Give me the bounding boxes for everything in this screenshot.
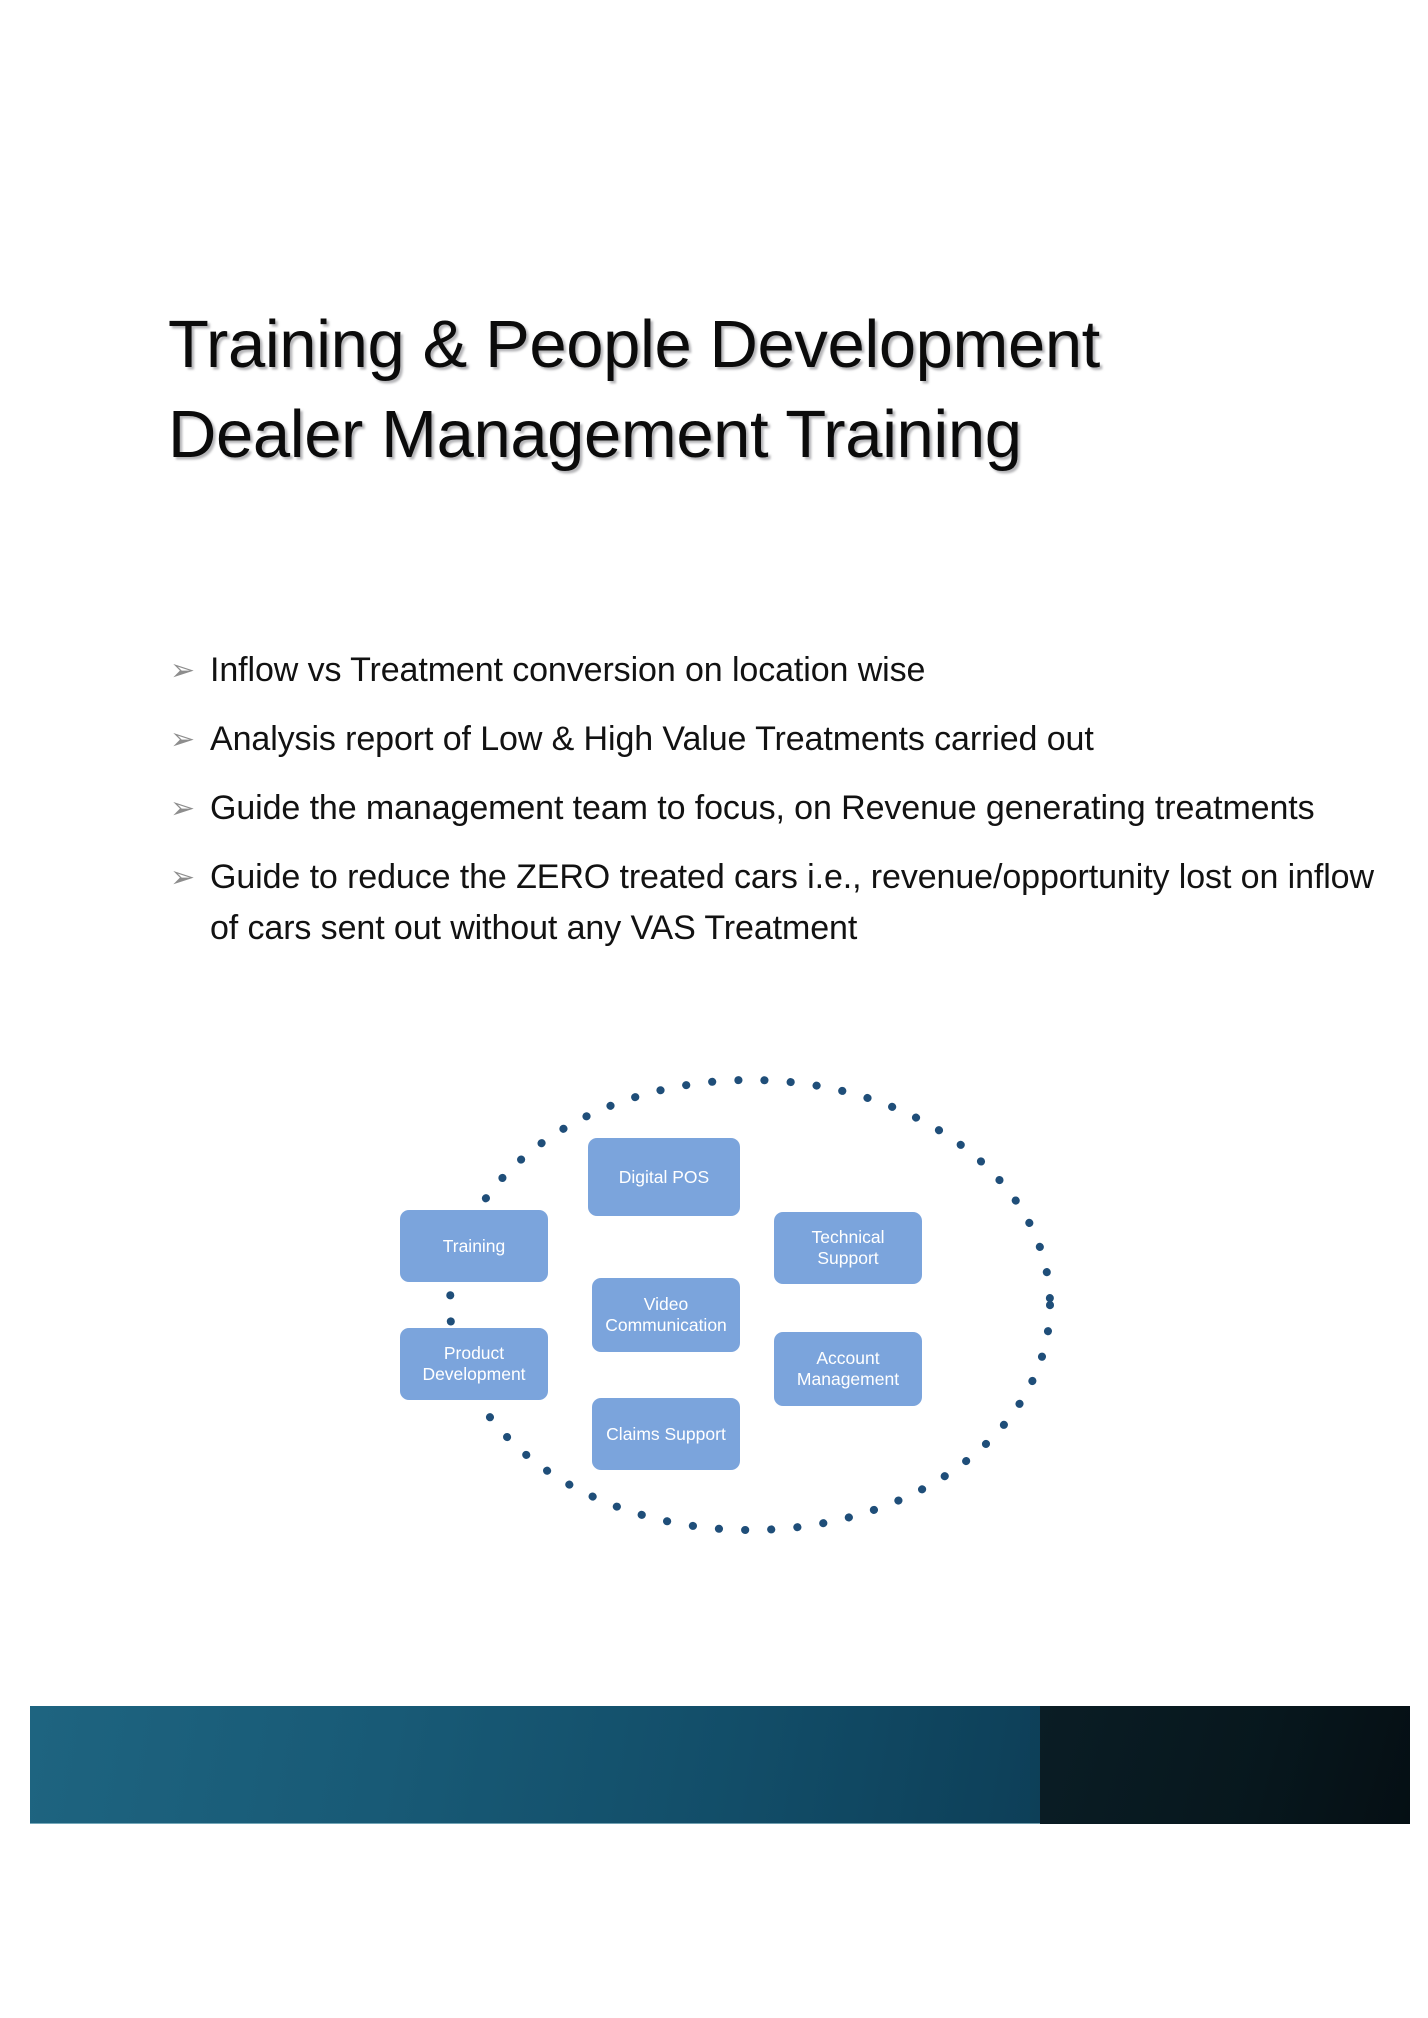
title-line-2: Dealer Management Training: [168, 390, 1308, 480]
node-video-communication[interactable]: VideoCommunication: [592, 1278, 740, 1352]
node-digital-pos[interactable]: Digital POS: [588, 1138, 740, 1216]
slide-canvas: Training & People Development Dealer Man…: [0, 0, 1428, 2018]
bullet-text-2: Analysis report of Low & High Value Trea…: [210, 714, 1398, 765]
list-item: ➢ Guide the management team to focus, on…: [168, 783, 1398, 834]
arrow-bullet-icon: ➢: [168, 852, 210, 903]
footer-band-right: [1040, 1706, 1410, 1824]
arrow-bullet-icon: ➢: [168, 714, 210, 765]
list-item: ➢ Analysis report of Low & High Value Tr…: [168, 714, 1398, 765]
node-label: ProductDevelopment: [422, 1343, 525, 1385]
capability-diagram: Digital POS Training TechnicalSupport Vi…: [370, 1060, 1130, 1670]
node-label: AccountManagement: [797, 1348, 899, 1390]
node-account-management[interactable]: AccountManagement: [774, 1332, 922, 1406]
bullet-list: ➢ Inflow vs Treatment conversion on loca…: [168, 645, 1398, 972]
node-label: TechnicalSupport: [812, 1227, 885, 1269]
node-label: Digital POS: [619, 1167, 709, 1188]
node-label: Claims Support: [606, 1424, 726, 1445]
footer-band: [30, 1706, 1410, 1824]
node-label: Training: [443, 1236, 506, 1257]
bullet-text-1: Inflow vs Treatment conversion on locati…: [210, 645, 1398, 696]
bullet-text-3: Guide the management team to focus, on R…: [210, 783, 1398, 834]
list-item: ➢ Inflow vs Treatment conversion on loca…: [168, 645, 1398, 696]
node-label: VideoCommunication: [605, 1294, 727, 1336]
page-title: Training & People Development Dealer Man…: [168, 300, 1308, 481]
node-claims-support[interactable]: Claims Support: [592, 1398, 740, 1470]
list-item: ➢ Guide to reduce the ZERO treated cars …: [168, 852, 1398, 954]
bullet-text-4: Guide to reduce the ZERO treated cars i.…: [210, 852, 1398, 954]
node-product-development[interactable]: ProductDevelopment: [400, 1328, 548, 1400]
node-training[interactable]: Training: [400, 1210, 548, 1282]
node-technical-support[interactable]: TechnicalSupport: [774, 1212, 922, 1284]
arrow-bullet-icon: ➢: [168, 783, 210, 834]
title-line-1: Training & People Development: [168, 300, 1308, 390]
footer-band-left: [30, 1706, 1040, 1824]
arrow-bullet-icon: ➢: [168, 645, 210, 696]
